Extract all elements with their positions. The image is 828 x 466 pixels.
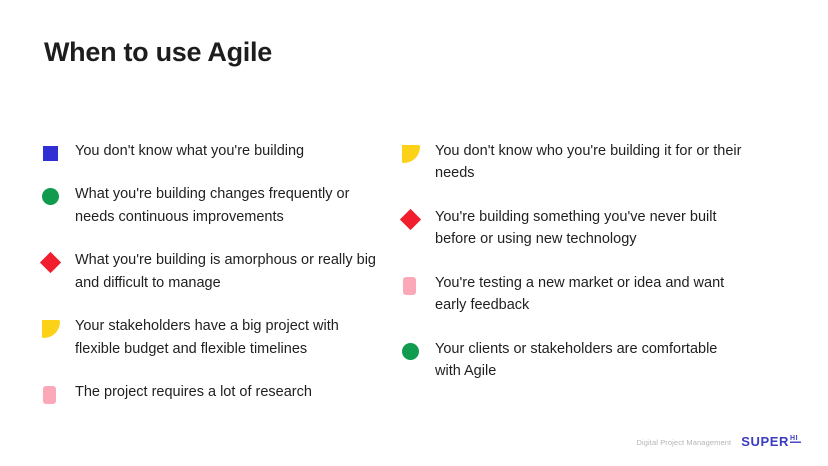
rounded-rect-icon bbox=[42, 383, 62, 403]
diamond-icon bbox=[42, 251, 62, 271]
superhi-logo: SUPER HI bbox=[741, 434, 804, 450]
logo-wordmark: SUPER bbox=[741, 434, 789, 449]
list-item-label: Your stakeholders have a big project wit… bbox=[75, 315, 385, 360]
rounded-rect-icon bbox=[402, 274, 422, 294]
quarter-circle-icon bbox=[42, 317, 62, 337]
list-item[interactable]: Your stakeholders have a big project wit… bbox=[42, 315, 402, 360]
list-item-label: The project requires a lot of research bbox=[75, 381, 312, 403]
list-item-label: You're testing a new market or idea and … bbox=[435, 272, 745, 317]
bullet-columns: You don't know what you're building What… bbox=[0, 140, 828, 425]
logo-mark-icon: HI bbox=[790, 434, 804, 450]
list-item[interactable]: You don't know who you're building it fo… bbox=[402, 140, 762, 185]
slide: When to use Agile You don't know what yo… bbox=[0, 0, 828, 466]
circle-icon bbox=[42, 185, 62, 205]
bullet-column-left: You don't know what you're building What… bbox=[42, 140, 402, 425]
circle-icon bbox=[402, 340, 422, 360]
list-item-label: What you're building is amorphous or rea… bbox=[75, 249, 385, 294]
list-item-label: You don't know who you're building it fo… bbox=[435, 140, 745, 185]
footer-course-label: Digital Project Management bbox=[636, 438, 731, 447]
bullet-column-right: You don't know who you're building it fo… bbox=[402, 140, 762, 404]
list-item-label: You're building something you've never b… bbox=[435, 206, 745, 251]
slide-footer: Digital Project Management SUPER HI bbox=[636, 434, 804, 450]
page-title: When to use Agile bbox=[44, 36, 272, 68]
list-item[interactable]: What you're building is amorphous or rea… bbox=[42, 249, 402, 294]
list-item-label: Your clients or stakeholders are comfort… bbox=[435, 338, 745, 383]
list-item[interactable]: Your clients or stakeholders are comfort… bbox=[402, 338, 762, 383]
diamond-icon bbox=[402, 208, 422, 228]
list-item[interactable]: What you're building changes frequently … bbox=[42, 183, 402, 228]
list-item[interactable]: The project requires a lot of research bbox=[42, 381, 402, 403]
list-item-label: You don't know what you're building bbox=[75, 140, 304, 162]
list-item[interactable]: You're building something you've never b… bbox=[402, 206, 762, 251]
list-item[interactable]: You're testing a new market or idea and … bbox=[402, 272, 762, 317]
list-item-label: What you're building changes frequently … bbox=[75, 183, 385, 228]
square-icon bbox=[42, 142, 62, 162]
svg-text:HI: HI bbox=[790, 435, 798, 442]
list-item[interactable]: You don't know what you're building bbox=[42, 140, 402, 162]
quarter-circle-icon bbox=[402, 142, 422, 162]
